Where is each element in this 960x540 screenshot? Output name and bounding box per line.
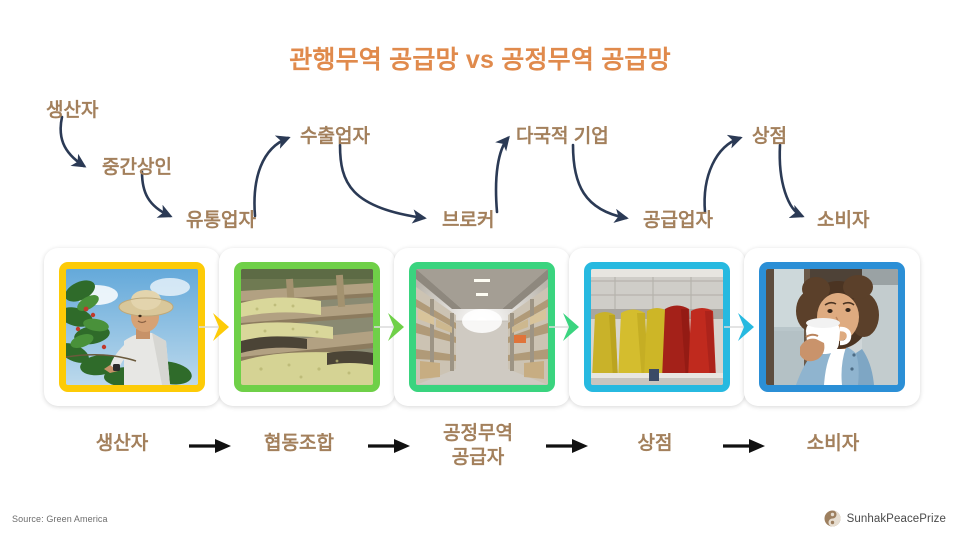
fairtrade-step-consumer-line-1: 소비자 <box>807 432 859 456</box>
brand-name: SunhakPeacePrize <box>847 513 946 525</box>
fairtrade-arrow-2 <box>366 437 412 455</box>
conventional-step-middleman: 중간상인 <box>102 152 172 179</box>
conventional-supply-chain-flow: 생산자 중간상인 유통업자 수출업자 브로커 다국적 기업 공급업자 상점 소비… <box>0 0 960 250</box>
photo-coffee-farmer <box>66 269 198 385</box>
fairtrade-step-producer: 생산자 <box>96 432 148 456</box>
chevron-arrow-4 <box>722 310 768 344</box>
fairtrade-step-retailer-line-1: 상점 <box>638 432 673 456</box>
conventional-step-distributor: 유통업자 <box>186 205 256 232</box>
fairtrade-step-consumer: 소비자 <box>807 432 859 456</box>
chevron-arrow-1 <box>197 310 243 344</box>
photo-card-frame-green <box>234 262 380 392</box>
source-credit: Source: Green America <box>12 514 108 524</box>
supply-chain-photo-row <box>0 248 960 408</box>
conventional-step-consumer: 소비자 <box>817 205 869 232</box>
fairtrade-arrow-3 <box>544 437 590 455</box>
photo-card-producer[interactable] <box>44 248 220 406</box>
photo-warehouse-aisle <box>416 269 548 385</box>
photo-card-frame-blue <box>759 262 905 392</box>
conventional-step-retailer: 상점 <box>752 121 787 148</box>
fairtrade-arrow-1 <box>187 437 233 455</box>
fairtrade-step-cooperative-line-1: 협동조합 <box>264 432 334 456</box>
fairtrade-arrow-4 <box>721 437 767 455</box>
fairtrade-step-retailer: 상점 <box>638 432 673 456</box>
sunhak-peace-prize-logo-icon <box>824 510 841 527</box>
fairtrade-step-fairtrade-supplier-line-2: 공급자 <box>443 446 513 470</box>
fairtrade-supply-chain-flow: 생산자 협동조합 공정무역 공급자 상점 소비자 <box>0 418 960 488</box>
photo-card-retailer[interactable] <box>569 248 745 406</box>
chevron-arrow-3 <box>547 310 593 344</box>
fairtrade-step-cooperative: 협동조합 <box>264 432 334 456</box>
fairtrade-step-fairtrade-supplier-line-1: 공정무역 <box>443 422 513 446</box>
photo-card-cooperative[interactable] <box>219 248 395 406</box>
fairtrade-step-fairtrade-supplier: 공정무역 공급자 <box>443 422 513 470</box>
fairtrade-step-producer-line-1: 생산자 <box>96 432 148 456</box>
chevron-arrow-2 <box>372 310 418 344</box>
photo-card-frame-emerald <box>409 262 555 392</box>
photo-card-frame-cyan <box>584 262 730 392</box>
conventional-step-producer: 생산자 <box>46 95 98 122</box>
photo-card-frame-yellow <box>59 262 205 392</box>
photo-woman-drinking-coffee <box>766 269 898 385</box>
conventional-step-exporter: 수출업자 <box>300 121 370 148</box>
photo-coffee-drying-beds <box>241 269 373 385</box>
conventional-step-multinational: 다국적 기업 <box>516 121 609 148</box>
photo-coffee-bags-shelf <box>591 269 723 385</box>
photo-card-fairtrade-supplier[interactable] <box>394 248 570 406</box>
conventional-step-broker: 브로커 <box>442 205 494 232</box>
conventional-step-supplier: 공급업자 <box>643 205 713 232</box>
photo-card-consumer[interactable] <box>744 248 920 406</box>
brand-logo: SunhakPeacePrize <box>824 510 946 527</box>
